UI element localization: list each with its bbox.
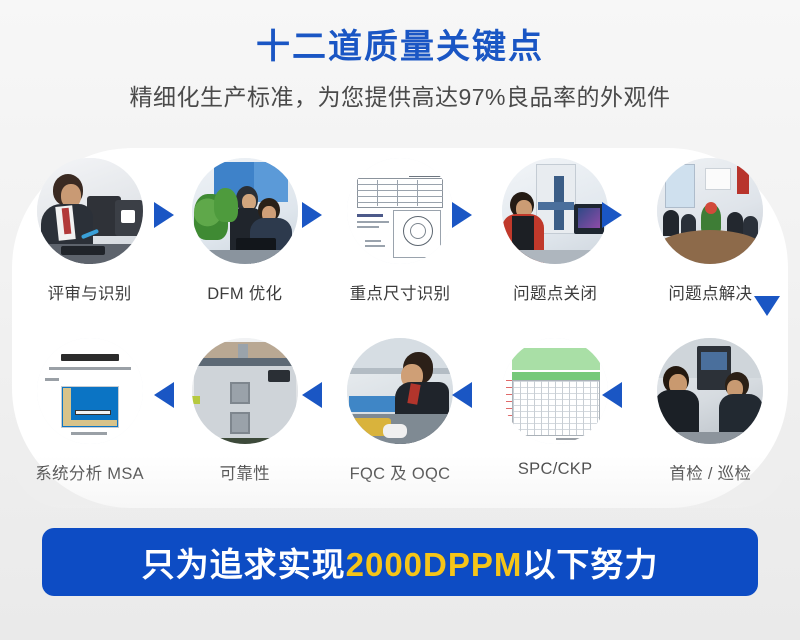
banner-text-after: 以下努力 xyxy=(522,546,658,583)
arrow-right-icon xyxy=(602,202,622,228)
step-image-dfm-optimize xyxy=(192,158,298,264)
step-msa-analysis[interactable]: 系统分析 MSA xyxy=(26,338,154,484)
step-label: 重点尺寸识别 xyxy=(350,280,451,304)
arrow-left-icon xyxy=(602,382,622,408)
step-review-identify[interactable]: 评审与识别 xyxy=(26,158,154,304)
arrow-left-icon xyxy=(452,382,472,408)
arrow-left-icon xyxy=(154,382,174,408)
page-title: 十二道质量关键点 xyxy=(0,26,800,69)
step-image-first-article-patrol xyxy=(657,338,763,444)
arrow-right-icon xyxy=(154,202,174,228)
step-image-reliability xyxy=(192,338,298,444)
process-flow-card: 评审与识别 DFM 优化 xyxy=(12,148,788,508)
step-image-review-identify xyxy=(37,158,143,264)
step-key-dimension-identify[interactable]: 重点尺寸识别 xyxy=(336,158,464,304)
step-label: 问题点关闭 xyxy=(513,280,597,304)
arrow-right-icon xyxy=(302,202,322,228)
page-subtitle: 精细化生产标准，为您提供高达97%良品率的外观件 xyxy=(0,83,800,113)
step-issue-resolve[interactable]: 问题点解决 xyxy=(646,158,774,304)
step-label: FQC 及 OQC xyxy=(350,460,451,484)
banner-highlight: 2000DPPM xyxy=(346,546,523,583)
step-image-fqc-oqc xyxy=(347,338,453,444)
banner-text-before: 只为追求实现 xyxy=(142,546,346,583)
step-image-key-dimension xyxy=(347,158,453,264)
step-reliability[interactable]: 可靠性 xyxy=(181,338,309,484)
promo-page: 十二道质量关键点 精细化生产标准，为您提供高达97%良品率的外观件 评审与识别 xyxy=(0,0,800,640)
step-image-issue-close xyxy=(502,158,608,264)
step-label: 系统分析 MSA xyxy=(35,460,144,484)
process-row-2: 系统分析 MSA 可靠性 xyxy=(12,338,788,484)
step-image-msa-analysis xyxy=(37,338,143,444)
step-label: DFM 优化 xyxy=(207,280,282,304)
step-label: SPC/CKP xyxy=(518,460,593,479)
step-first-article-patrol[interactable]: 首检 / 巡检 xyxy=(646,338,774,484)
step-image-issue-resolve xyxy=(657,158,763,264)
step-label: 首检 / 巡检 xyxy=(669,460,751,484)
step-spc-ckp[interactable]: SPC/CKP xyxy=(491,338,619,479)
goal-banner[interactable]: 只为追求实现2000DPPM以下努力 xyxy=(42,528,758,596)
goal-banner-text: 只为追求实现2000DPPM以下努力 xyxy=(142,538,659,586)
arrow-right-icon xyxy=(452,202,472,228)
page-header: 十二道质量关键点 精细化生产标准，为您提供高达97%良品率的外观件 xyxy=(0,0,800,136)
step-image-spc-ckp xyxy=(502,338,608,444)
step-label: 评审与识别 xyxy=(48,280,132,304)
step-dfm-optimize[interactable]: DFM 优化 xyxy=(181,158,309,304)
step-fqc-oqc[interactable]: FQC 及 OQC xyxy=(336,338,464,484)
process-row-1: 评审与识别 DFM 优化 xyxy=(12,158,788,304)
arrow-left-icon xyxy=(302,382,322,408)
arrow-down-icon xyxy=(754,296,780,316)
step-issue-close[interactable]: 问题点关闭 xyxy=(491,158,619,304)
step-label: 问题点解决 xyxy=(668,280,752,304)
step-label: 可靠性 xyxy=(220,460,270,484)
